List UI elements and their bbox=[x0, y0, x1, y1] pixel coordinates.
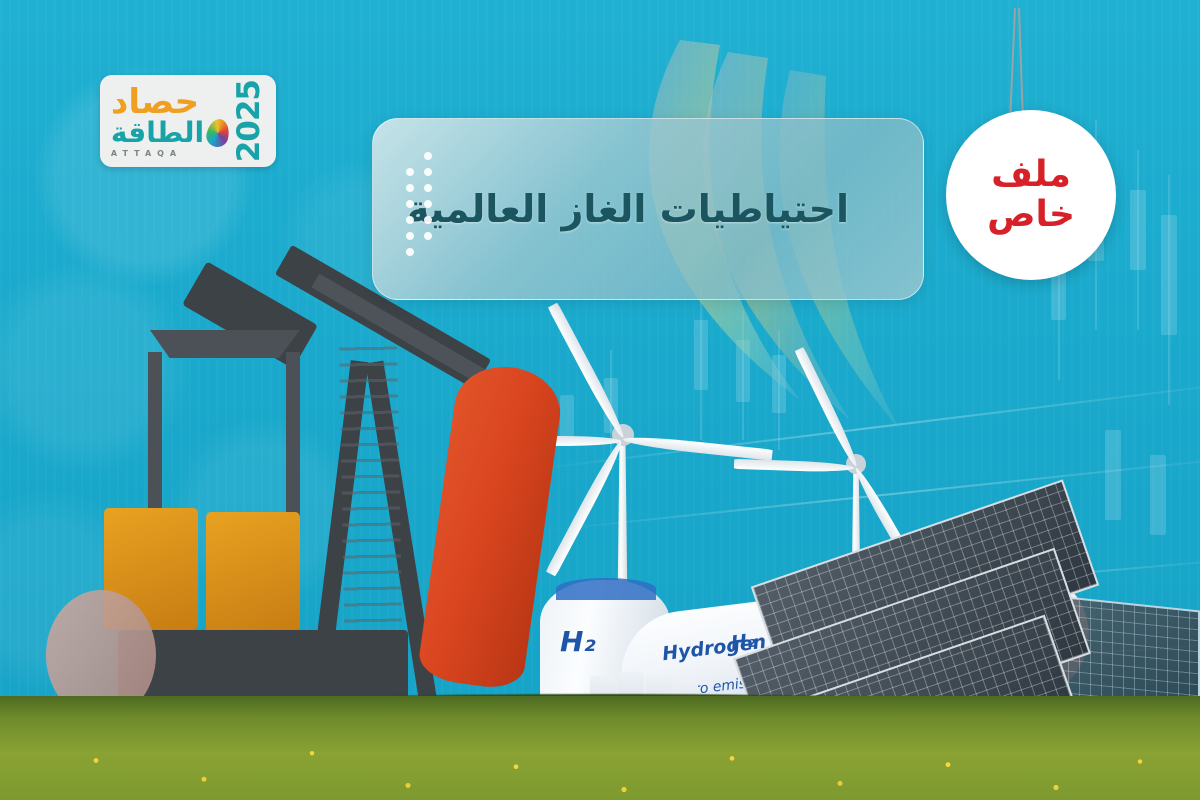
energy-drop-icon bbox=[204, 117, 231, 149]
badge-line-1: ملف bbox=[991, 156, 1071, 194]
grass-field bbox=[0, 696, 1200, 800]
badge-line-2: خاص bbox=[987, 196, 1075, 234]
dot-grid-decoration bbox=[404, 152, 438, 260]
special-file-badge[interactable]: ملف خاص bbox=[938, 0, 1118, 300]
h2-tank-label: H₂ bbox=[560, 625, 596, 658]
logo-word-hasad: حصاد bbox=[111, 85, 199, 119]
logo-year: 2025 bbox=[234, 80, 265, 162]
title-banner: احتياطيات الغاز العالمية bbox=[372, 118, 924, 300]
logo-latin-name: ATTAQA bbox=[111, 150, 182, 158]
page-title: احتياطيات الغاز العالمية bbox=[407, 187, 849, 231]
logo-word-attaqa: الطاقة bbox=[111, 119, 204, 147]
badge-circle[interactable]: ملف خاص bbox=[946, 110, 1116, 280]
poster-canvas: H₂ Hydrogen H₂ zero emission bbox=[0, 0, 1200, 800]
hasad-attaqa-2025-logo[interactable]: 2025 حصاد الطاقة ATTAQA bbox=[100, 75, 276, 167]
